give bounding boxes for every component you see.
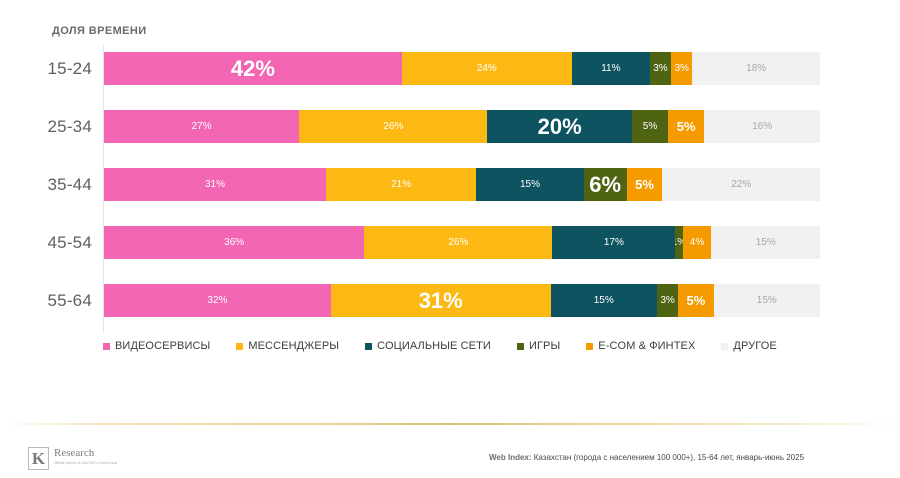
bar-row: 45-5436%26%17%1%4%15% <box>103 226 820 259</box>
bar-segment[interactable]: 17% <box>552 226 675 259</box>
bar-segment[interactable]: 5% <box>632 110 668 143</box>
bar-segment[interactable]: 15% <box>476 168 583 201</box>
legend-swatch-icon <box>365 343 372 350</box>
stacked-bar: 31%21%15%6%5%22% <box>104 168 820 201</box>
bar-segment[interactable]: 6% <box>584 168 627 201</box>
bar-segment-value: 27% <box>192 121 212 132</box>
bar-segment[interactable]: 3% <box>657 284 678 317</box>
bar-segment-value: 16% <box>752 121 772 132</box>
stacked-bar: 27%26%20%5%5%16% <box>104 110 820 143</box>
legend-swatch-icon <box>103 343 110 350</box>
bar-segment[interactable]: 1% <box>675 226 682 259</box>
bar-segment-value: 36% <box>224 237 244 248</box>
bar-segment-value: 15% <box>594 295 614 306</box>
bar-row: 55-6432%31%15%3%5%15% <box>103 284 820 317</box>
axis-tick-label: 55-64 <box>2 284 92 317</box>
stacked-bar: 32%31%15%3%5%15% <box>104 284 820 317</box>
stacked-bar: 36%26%17%1%4%15% <box>104 226 820 259</box>
bar-segment[interactable]: 16% <box>704 110 820 143</box>
bar-segment-value: 31% <box>205 179 225 190</box>
bar-segment-value: 26% <box>383 121 403 132</box>
legend-item[interactable]: ИГРЫ <box>517 340 560 352</box>
bar-segment[interactable]: 5% <box>678 284 713 317</box>
bar-segment-value: 5% <box>687 293 706 308</box>
source-note: Web Index: Казахстан (города с население… <box>489 453 804 462</box>
axis-tick-label: 35-44 <box>2 168 92 201</box>
bar-segment[interactable]: 18% <box>692 52 820 85</box>
bar-segment-value: 26% <box>448 237 468 248</box>
bar-segment[interactable]: 36% <box>104 226 364 259</box>
legend-item[interactable]: ВИДЕОСЕРВИСЫ <box>103 340 210 352</box>
bar-segment[interactable]: 42% <box>104 52 402 85</box>
legend-label: МЕССЕНДЖЕРЫ <box>248 340 339 352</box>
bar-segment[interactable]: 31% <box>104 168 326 201</box>
bar-segment-value: 3% <box>653 63 667 74</box>
bar-segment-value: 15% <box>756 237 776 248</box>
bar-segment[interactable]: 31% <box>331 284 551 317</box>
bar-segment[interactable]: 15% <box>551 284 657 317</box>
legend-label: ДРУГОЕ <box>733 340 776 352</box>
logo-k-icon: K <box>28 447 49 470</box>
bar-segment[interactable]: 3% <box>650 52 671 85</box>
bar-row: 35-4431%21%15%6%5%22% <box>103 168 820 201</box>
chart-plot-area: 15-2442%24%11%3%3%18%25-3427%26%20%5%5%1… <box>103 45 820 335</box>
legend-label: ВИДЕОСЕРВИСЫ <box>115 340 210 352</box>
bar-segment-value: 32% <box>207 295 227 306</box>
bar-segment[interactable]: 26% <box>299 110 487 143</box>
logo-subtitle: Official partner of KANTAR in Central As… <box>54 461 117 465</box>
bar-segment-value: 1% <box>675 237 682 248</box>
bar-segment[interactable]: 5% <box>627 168 663 201</box>
logo-name: Research <box>54 448 117 459</box>
chart-legend: ВИДЕОСЕРВИСЫМЕССЕНДЖЕРЫСОЦИАЛЬНЫЕ СЕТИИГ… <box>103 340 833 352</box>
bar-segment-value: 3% <box>660 295 674 306</box>
bar-segment-value: 31% <box>419 288 463 314</box>
bar-segment[interactable]: 21% <box>326 168 476 201</box>
axis-tick-label: 25-34 <box>2 110 92 143</box>
bar-segment-value: 5% <box>677 119 696 134</box>
bar-segment[interactable]: 15% <box>714 284 820 317</box>
bar-segment-value: 5% <box>635 177 654 192</box>
bar-segment-value: 24% <box>477 63 497 74</box>
bar-row: 25-3427%26%20%5%5%16% <box>103 110 820 143</box>
bar-segment[interactable]: 22% <box>662 168 820 201</box>
bar-segment[interactable]: 24% <box>402 52 572 85</box>
footer-divider <box>0 423 900 425</box>
bar-segment-value: 6% <box>589 172 621 198</box>
legend-item[interactable]: МЕССЕНДЖЕРЫ <box>236 340 339 352</box>
bar-segment[interactable]: 4% <box>683 226 712 259</box>
axis-tick-label: 15-24 <box>2 52 92 85</box>
bar-segment-value: 17% <box>604 237 624 248</box>
legend-label: E-COM & ФИНТЕХ <box>598 340 695 352</box>
bar-segment-value: 20% <box>538 114 582 140</box>
source-prefix: Web Index: <box>489 453 532 462</box>
legend-label: СОЦИАЛЬНЫЕ СЕТИ <box>377 340 491 352</box>
bar-segment-value: 42% <box>231 56 275 82</box>
legend-item[interactable]: ДРУГОЕ <box>721 340 776 352</box>
logo-text-block: Research Official partner of KANTAR in C… <box>54 447 117 465</box>
legend-swatch-icon <box>517 343 524 350</box>
bar-row: 15-2442%24%11%3%3%18% <box>103 52 820 85</box>
axis-tick-label: 45-54 <box>2 226 92 259</box>
legend-item[interactable]: СОЦИАЛЬНЫЕ СЕТИ <box>365 340 491 352</box>
bar-segment-value: 21% <box>391 179 411 190</box>
bar-segment-value: 4% <box>690 237 704 248</box>
bar-segment[interactable]: 20% <box>487 110 632 143</box>
source-description: Казахстан (города с населением 100 000+)… <box>534 453 804 462</box>
bar-segment-value: 15% <box>520 179 540 190</box>
legend-swatch-icon <box>721 343 728 350</box>
bar-segment-value: 15% <box>757 295 777 306</box>
bar-segment[interactable]: 15% <box>711 226 819 259</box>
bar-segment-value: 11% <box>601 63 620 74</box>
bar-segment-value: 3% <box>675 63 689 74</box>
bar-segment[interactable]: 32% <box>104 284 331 317</box>
bar-segment[interactable]: 26% <box>364 226 552 259</box>
page-title: ДОЛЯ ВРЕМЕНИ <box>52 25 147 37</box>
bar-segment-value: 22% <box>731 179 751 190</box>
legend-swatch-icon <box>236 343 243 350</box>
legend-label: ИГРЫ <box>529 340 560 352</box>
bar-segment[interactable]: 27% <box>104 110 299 143</box>
stacked-bar: 42%24%11%3%3%18% <box>104 52 820 85</box>
legend-item[interactable]: E-COM & ФИНТЕХ <box>586 340 695 352</box>
bar-segment[interactable]: 3% <box>671 52 692 85</box>
bar-segment-value: 5% <box>643 121 657 132</box>
legend-swatch-icon <box>586 343 593 350</box>
bar-segment-value: 18% <box>746 63 766 74</box>
bar-segment[interactable]: 11% <box>572 52 650 85</box>
brand-logo: K Research Official partner of KANTAR in… <box>28 447 117 470</box>
bar-segment[interactable]: 5% <box>668 110 704 143</box>
